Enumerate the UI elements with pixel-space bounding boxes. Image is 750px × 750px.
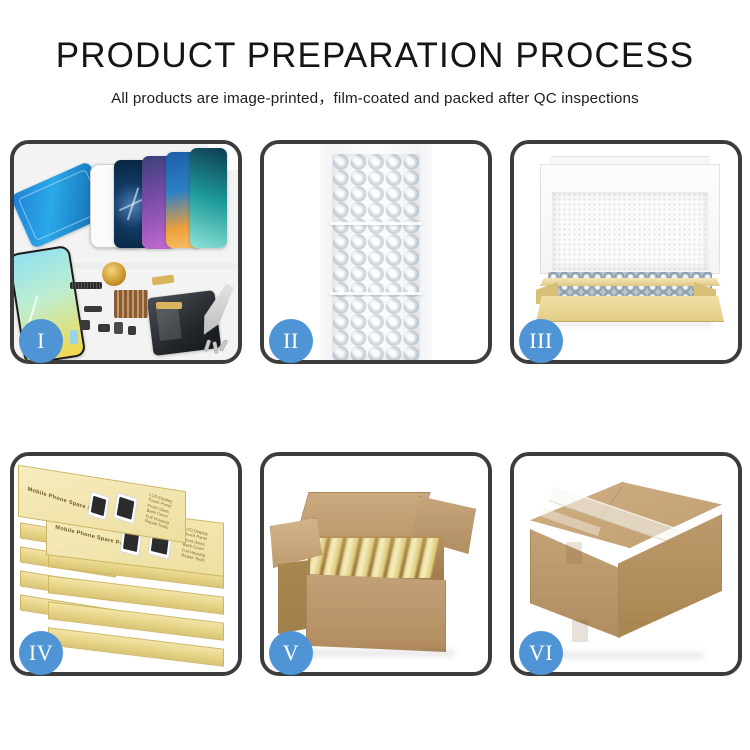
box-rim bbox=[540, 278, 720, 286]
sim-tray-icon bbox=[70, 330, 78, 344]
step-panel-4: Mobile Phone Spare Parts LCD Display Tou… bbox=[10, 452, 242, 676]
step-badge-6: VI bbox=[519, 631, 563, 675]
product-preparation-infographic: PRODUCT PREPARATION PROCESS All products… bbox=[0, 0, 750, 750]
step-panel-6: VI bbox=[510, 452, 742, 676]
pouch-seam bbox=[330, 292, 422, 295]
steps-grid: I II III bbox=[10, 140, 742, 676]
step-badge-1: I bbox=[19, 319, 63, 363]
phone-thumbnail bbox=[113, 492, 138, 525]
drop-shadow bbox=[294, 650, 454, 656]
carton-contents bbox=[310, 538, 442, 578]
page-title: PRODUCT PREPARATION PROCESS bbox=[0, 36, 750, 76]
small-component-icon bbox=[84, 306, 102, 312]
flex-cable-icon bbox=[152, 275, 175, 286]
small-component-icon bbox=[128, 326, 136, 335]
step-badge-5: V bbox=[269, 631, 313, 675]
header: PRODUCT PREPARATION PROCESS All products… bbox=[0, 0, 750, 108]
step-badge-4: IV bbox=[19, 631, 63, 675]
pouch-seam bbox=[330, 222, 422, 225]
step-badge-2: II bbox=[269, 319, 313, 363]
phone-thumbnail bbox=[87, 491, 110, 521]
step-panel-2: II bbox=[260, 140, 492, 364]
small-component-icon bbox=[114, 322, 123, 334]
teal-phone-icon bbox=[190, 148, 227, 248]
box-checklist: LCD Display Touch Panel Front Glass Back… bbox=[145, 492, 173, 531]
carton-front-wall bbox=[306, 574, 446, 652]
step-panel-5: V bbox=[260, 452, 492, 676]
carton-scuff bbox=[572, 620, 588, 642]
vibration-motor-icon bbox=[102, 262, 126, 286]
small-component-icon bbox=[98, 324, 110, 332]
page-subtitle: All products are image-printed，film-coat… bbox=[0, 86, 750, 108]
small-component-icon bbox=[80, 320, 90, 330]
step-panel-3: III bbox=[510, 140, 742, 364]
carton-scuff bbox=[566, 542, 582, 564]
chip-array-icon bbox=[114, 290, 148, 318]
step-badge-3: III bbox=[519, 319, 563, 363]
step-panel-1: I bbox=[10, 140, 242, 364]
drop-shadow bbox=[548, 322, 712, 327]
bubble-wrap-texture bbox=[332, 154, 420, 360]
foam-sheet bbox=[552, 192, 708, 270]
carton-side-wall bbox=[278, 560, 310, 634]
earpiece-speaker-icon bbox=[70, 282, 102, 289]
screws-icon bbox=[206, 340, 232, 356]
flex-cable-icon bbox=[156, 302, 182, 309]
box-front-wall bbox=[536, 296, 724, 322]
drop-shadow bbox=[540, 652, 704, 658]
